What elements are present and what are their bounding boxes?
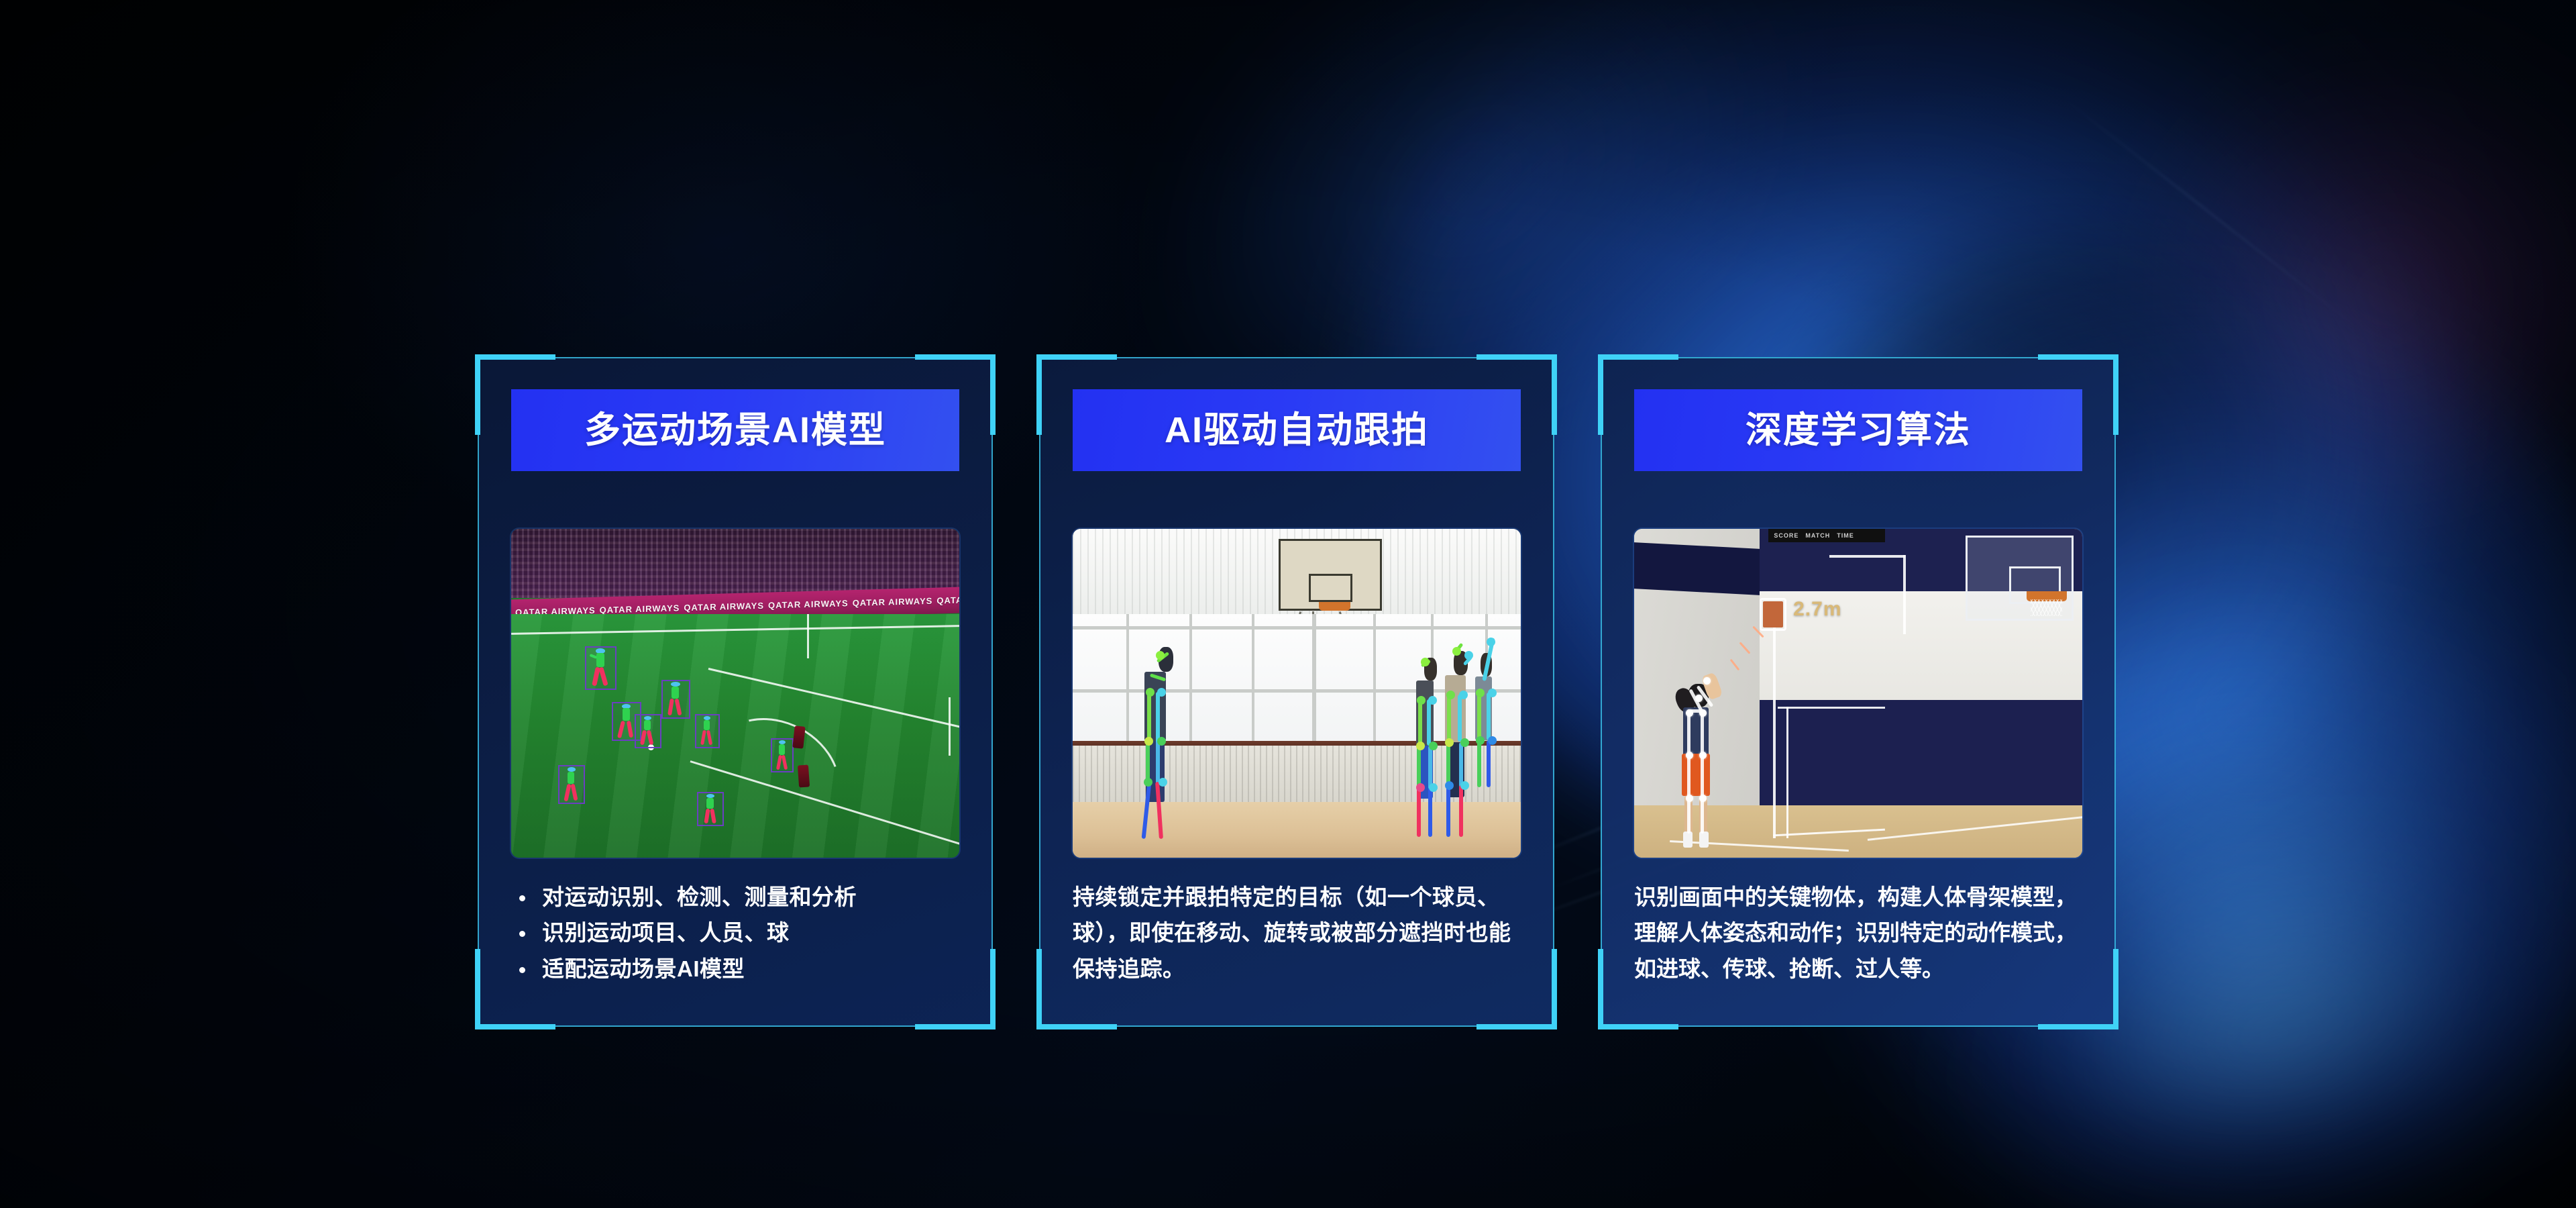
ad-board-text: QATAR AIRWAYS [680, 600, 764, 613]
basketball-rim [1319, 602, 1350, 611]
card-body: 对运动识别、检测、测量和分析 识别运动项目、人员、球 适配运动场景AI模型 [511, 879, 962, 987]
card-body: 持续锁定并跟拍特定的目标（如一个球员、球），即使在移动、旋转或被部分遮挡时也能保… [1073, 879, 1523, 987]
ad-board-text: QATAR AIRWAYS [596, 603, 680, 615]
soccer-pitch [511, 614, 959, 858]
court-wall-pad-bottom [1760, 700, 2082, 805]
card-frame-left [1039, 357, 1040, 1027]
gym-scene [1073, 529, 1521, 858]
trajectory-guide [1903, 555, 1906, 634]
feature-card-multi-sport-ai-model[interactable]: 多运动场景AI模型 QATAR AIRWAYS QATAR AIRWAYS QA… [470, 349, 1001, 1035]
trajectory-guide [1778, 707, 1885, 709]
card-media-thumbnail-court[interactable]: SCORE MATCH TIME [1634, 529, 2082, 858]
card-body: 识别画面中的关键物体，构建人体骨架模型，理解人体姿态和动作；识别特定的动作模式，… [1634, 879, 2085, 987]
ad-board-text: QATAR AIRWAYS [849, 595, 933, 608]
card-title: 深度学习算法 [1746, 412, 1971, 448]
feature-card-group: 多运动场景AI模型 QATAR AIRWAYS QATAR AIRWAYS QA… [0, 0, 2576, 1208]
card-frame-right [2114, 357, 2116, 1027]
feature-card-ai-auto-tracking[interactable]: AI驱动自动跟拍 [1031, 349, 1562, 1035]
feature-description: 持续锁定并跟拍特定的目标（如一个球员、球），即使在移动、旋转或被部分遮挡时也能保… [1073, 879, 1523, 987]
detection-box [635, 714, 661, 748]
pose-skeleton [1467, 638, 1512, 835]
scoreboard-label: MATCH [1805, 532, 1830, 539]
ad-board-text: QATAR AIRWAYS [932, 593, 959, 606]
feature-bullet-list: 对运动识别、检测、测量和分析 识别运动项目、人员、球 适配运动场景AI模型 [511, 879, 962, 987]
scoreboard-label: TIME [1837, 532, 1854, 539]
scoreboard-label: SCORE [1774, 532, 1799, 539]
trajectory-vertical-guide [1773, 614, 1776, 838]
card-header-banner: AI驱动自动跟拍 [1073, 389, 1521, 471]
player-figure [792, 725, 805, 748]
card-header-banner: 多运动场景AI模型 [511, 389, 959, 471]
card-title: 多运动场景AI模型 [584, 412, 886, 448]
detection-box [771, 738, 793, 772]
card-frame-left [1601, 357, 1602, 1027]
ball-tracking-box [1760, 598, 1786, 631]
feature-card-deep-learning-algorithm[interactable]: 深度学习算法 SCORE MATCH TIME [1593, 349, 2124, 1035]
pitch-line [807, 614, 809, 658]
feature-description: 识别画面中的关键物体，构建人体骨架模型，理解人体姿态和动作；识别特定的动作模式，… [1634, 879, 2085, 987]
card-frame-left [478, 357, 479, 1027]
player-figure [797, 765, 809, 788]
list-item: 对运动识别、检测、测量和分析 [511, 879, 962, 915]
card-frame-right [1553, 357, 1554, 1027]
basketball-backboard [1279, 539, 1382, 611]
court-wall-band [1634, 542, 1760, 595]
detection-box [695, 714, 720, 748]
list-item: 识别运动项目、人员、球 [511, 915, 962, 950]
detection-box [585, 646, 616, 690]
pitch-line [949, 697, 951, 756]
trajectory-guide [1786, 707, 1788, 838]
court-scene: SCORE MATCH TIME [1634, 529, 2082, 858]
card-header-banner: 深度学习算法 [1634, 389, 2082, 471]
distance-label: 2.7m [1793, 598, 1841, 621]
detection-box [558, 765, 585, 804]
card-media-thumbnail-gym[interactable] [1073, 529, 1521, 858]
stadium-stand [511, 529, 959, 598]
card-title: AI驱动自动跟拍 [1165, 412, 1429, 448]
detection-box [661, 680, 690, 719]
soccer-scene: QATAR AIRWAYS QATAR AIRWAYS QATAR AIRWAY… [511, 529, 959, 858]
card-media-thumbnail-soccer[interactable]: QATAR AIRWAYS QATAR AIRWAYS QATAR AIRWAY… [511, 529, 959, 858]
scoreboard: SCORE MATCH TIME [1768, 529, 1885, 542]
detection-box [697, 792, 724, 826]
list-item: 适配运动场景AI模型 [511, 951, 962, 987]
ad-board-text: QATAR AIRWAYS [764, 598, 849, 611]
trajectory-guide [1829, 555, 1906, 558]
pose-skeleton [1131, 647, 1194, 851]
backboard-target-square [1309, 574, 1352, 603]
basketball-net [2031, 599, 2062, 616]
card-frame-right [991, 357, 993, 1027]
pitch-line [511, 625, 959, 635]
pose-skeleton [1666, 674, 1733, 852]
